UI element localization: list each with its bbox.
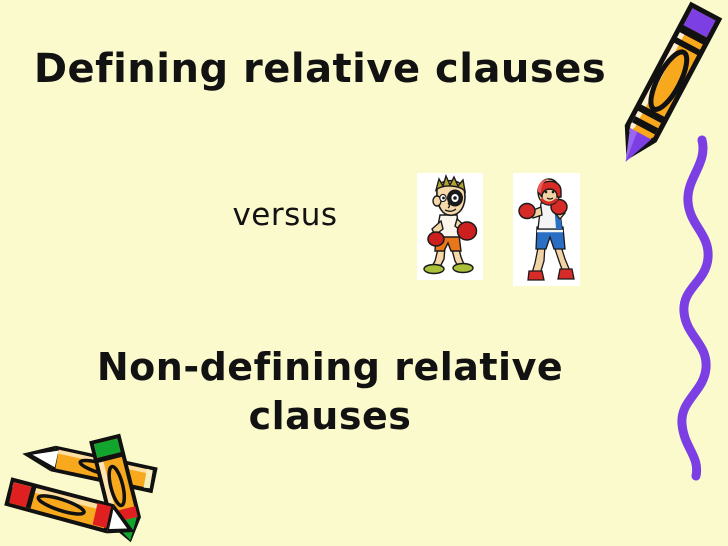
crossed-crayons-pair bbox=[0, 424, 188, 546]
cartoon-boxer-headgear-image bbox=[513, 173, 580, 286]
purple-squiggle-line bbox=[652, 138, 728, 478]
page-title-defining: Defining relative clauses bbox=[0, 46, 640, 92]
versus-label: versus bbox=[170, 198, 400, 232]
presentation-slide: Defining relative clauses versus bbox=[0, 0, 728, 546]
cartoon-boxer-blond-image bbox=[417, 173, 483, 280]
page-title-non-defining: Non-defining relative clauses bbox=[10, 343, 650, 440]
